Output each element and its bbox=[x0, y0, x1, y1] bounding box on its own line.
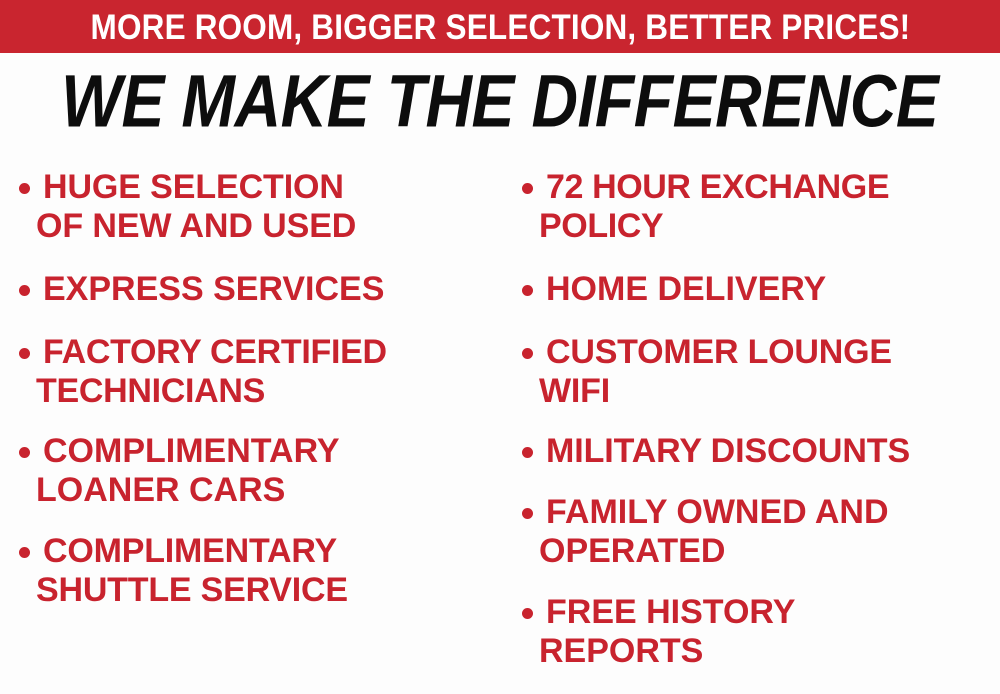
page-title: WE MAKE THE DIFFERENCE bbox=[61, 63, 938, 139]
list-item-line-1: FAMILY OWNED AND bbox=[546, 493, 889, 532]
list-item-text: EXPRESS SERVICES bbox=[43, 270, 384, 309]
list-item-line-2: SHUTTLE SERVICE bbox=[43, 571, 348, 610]
list-item-line-2: POLICY bbox=[546, 207, 889, 246]
list-item-line-1: CUSTOMER LOUNGE bbox=[546, 333, 892, 372]
list-item-line-1: FREE HISTORY bbox=[546, 593, 795, 632]
list-item-text: FREE HISTORY REPORTS bbox=[546, 593, 795, 671]
list-item-line-2: OF NEW AND USED bbox=[43, 207, 356, 246]
bullet-dot-icon bbox=[522, 447, 533, 458]
bullet-dot-icon bbox=[19, 183, 30, 194]
list-item-text: COMPLIMENTARY LOANER CARS bbox=[43, 432, 340, 510]
list-item-text: FACTORY CERTIFIED TECHNICIANS bbox=[43, 333, 387, 411]
list-item-text: HOME DELIVERY bbox=[546, 270, 826, 309]
bullet-dot-icon bbox=[522, 508, 533, 519]
list-item-text: MILITARY DISCOUNTS bbox=[546, 432, 910, 471]
list-item: 72 HOUR EXCHANGE POLICY bbox=[522, 168, 889, 246]
list-item: EXPRESS SERVICES bbox=[19, 270, 384, 309]
bullet-dot-icon bbox=[522, 608, 533, 619]
promo-banner-text: MORE ROOM, BIGGER SELECTION, BETTER PRIC… bbox=[90, 10, 910, 45]
list-item: FACTORY CERTIFIED TECHNICIANS bbox=[19, 333, 387, 411]
list-item-line-2: TECHNICIANS bbox=[43, 372, 387, 411]
list-item-line-2: REPORTS bbox=[546, 632, 795, 671]
list-item: CUSTOMER LOUNGE WIFI bbox=[522, 333, 892, 411]
bullet-dot-icon bbox=[19, 547, 30, 558]
bullet-dot-icon bbox=[522, 183, 533, 194]
list-item-line-1: MILITARY DISCOUNTS bbox=[546, 432, 910, 471]
list-item-line-1: COMPLIMENTARY bbox=[43, 532, 348, 571]
benefits-column-left: HUGE SELECTION OF NEW AND USED EXPRESS S… bbox=[0, 150, 500, 694]
list-item: HOME DELIVERY bbox=[522, 270, 826, 309]
list-item: FAMILY OWNED AND OPERATED bbox=[522, 493, 889, 571]
bullet-dot-icon bbox=[522, 285, 533, 296]
headline-container: WE MAKE THE DIFFERENCE bbox=[0, 62, 1000, 140]
list-item: MILITARY DISCOUNTS bbox=[522, 432, 910, 471]
list-item-text: CUSTOMER LOUNGE WIFI bbox=[546, 333, 892, 411]
list-item: COMPLIMENTARY LOANER CARS bbox=[19, 432, 340, 510]
list-item-line-1: COMPLIMENTARY bbox=[43, 432, 340, 471]
list-item-line-2: OPERATED bbox=[546, 532, 889, 571]
list-item: HUGE SELECTION OF NEW AND USED bbox=[19, 168, 356, 246]
benefits-column-right: 72 HOUR EXCHANGE POLICY HOME DELIVERY CU… bbox=[500, 150, 1000, 694]
list-item-text: 72 HOUR EXCHANGE POLICY bbox=[546, 168, 889, 246]
list-item: COMPLIMENTARY SHUTTLE SERVICE bbox=[19, 532, 348, 610]
list-item-line-1: 72 HOUR EXCHANGE bbox=[546, 168, 889, 207]
list-item-line-1: FACTORY CERTIFIED bbox=[43, 333, 387, 372]
list-item-text: HUGE SELECTION OF NEW AND USED bbox=[43, 168, 356, 246]
list-item-line-1: EXPRESS SERVICES bbox=[43, 270, 384, 309]
list-item-text: FAMILY OWNED AND OPERATED bbox=[546, 493, 889, 571]
list-item-text: COMPLIMENTARY SHUTTLE SERVICE bbox=[43, 532, 348, 610]
list-item-line-2: WIFI bbox=[546, 372, 892, 411]
list-item-line-1: HOME DELIVERY bbox=[546, 270, 826, 309]
bullet-dot-icon bbox=[19, 447, 30, 458]
list-item-line-1: HUGE SELECTION bbox=[43, 168, 356, 207]
promo-banner: MORE ROOM, BIGGER SELECTION, BETTER PRIC… bbox=[0, 0, 1000, 53]
list-item: FREE HISTORY REPORTS bbox=[522, 593, 795, 671]
list-item-line-2: LOANER CARS bbox=[43, 471, 340, 510]
bullet-dot-icon bbox=[19, 348, 30, 359]
bullet-dot-icon bbox=[522, 348, 533, 359]
bullet-dot-icon bbox=[19, 285, 30, 296]
benefits-columns: HUGE SELECTION OF NEW AND USED EXPRESS S… bbox=[0, 150, 1000, 694]
